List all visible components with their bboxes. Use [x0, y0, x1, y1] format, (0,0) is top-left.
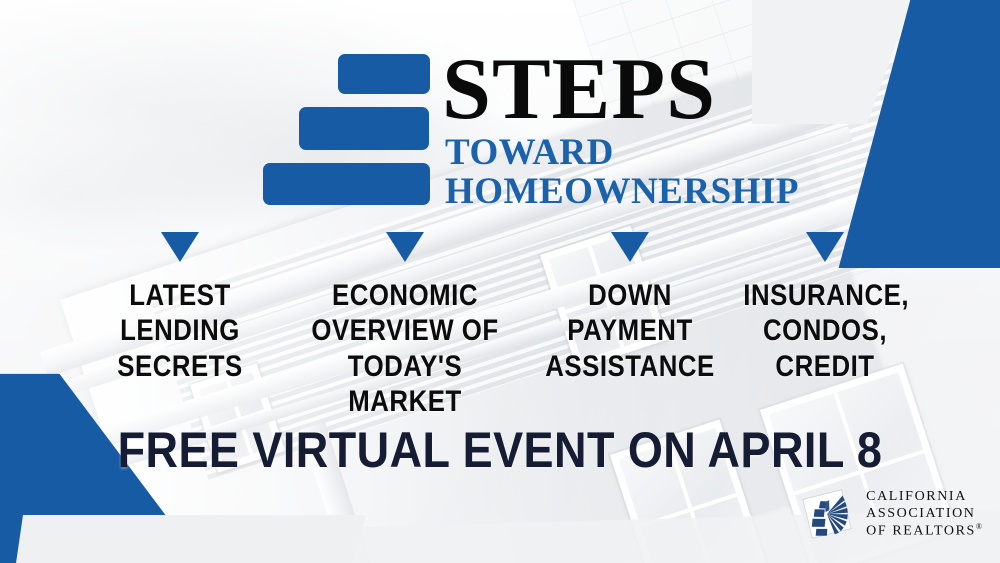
feature-columns: LATEST LENDING SECRETS ECONOMIC OVERVIEW…: [0, 232, 1000, 420]
feature-column-3: DOWN PAYMENT ASSISTANCE: [530, 232, 730, 384]
feature-column-1: LATEST LENDING SECRETS: [80, 232, 280, 384]
logo-title: STEPS: [442, 52, 799, 128]
feature-label-4: INSURANCE, CONDOS, CREDIT: [743, 278, 906, 384]
triangle-down-icon: [386, 232, 424, 262]
event-headline: FREE VIRTUAL EVENT ON APRIL 8: [50, 425, 950, 475]
triangle-down-icon: [806, 232, 844, 262]
car-logo-line-3-text: OF REALTORS: [866, 524, 976, 539]
car-logo-text: CALIFORNIA ASSOCIATION OF REALTORS®: [866, 488, 982, 540]
step-bar-bottom: [263, 163, 430, 205]
california-association-of-realtors-mark-icon: [800, 487, 854, 541]
bottom-left-light-panel: [16, 515, 366, 563]
feature-column-2: ECONOMIC OVERVIEW OF TODAY'S MARKET: [280, 232, 530, 420]
promo-graphic: STEPS TOWARD HOMEOWNERSHIP LATEST LENDIN…: [0, 0, 1000, 563]
step-bar-middle: [299, 107, 429, 150]
feature-label-1: LATEST LENDING SECRETS: [94, 278, 266, 384]
car-logo-line-2: ASSOCIATION: [866, 505, 982, 522]
logo-subtitle-line1: TOWARD: [445, 134, 799, 173]
logo-subtitle: TOWARD HOMEOWNERSHIP: [445, 134, 799, 212]
car-logo-line-3: OF REALTORS®: [866, 522, 982, 540]
registered-mark: ®: [976, 522, 982, 531]
feature-label-2: ECONOMIC OVERVIEW OF TODAY'S MARKET: [298, 278, 513, 420]
california-association-of-realtors-logo: CALIFORNIA ASSOCIATION OF REALTORS®: [800, 487, 982, 541]
steps-bars-icon: [258, 50, 430, 205]
triangle-down-icon: [161, 232, 199, 262]
triangle-down-icon: [611, 232, 649, 262]
car-logo-line-1: CALIFORNIA: [866, 488, 982, 505]
step-bar-top: [338, 54, 430, 94]
steps-logo: STEPS TOWARD HOMEOWNERSHIP: [258, 50, 799, 211]
steps-logo-wordmark: STEPS TOWARD HOMEOWNERSHIP: [430, 50, 799, 211]
feature-label-3: DOWN PAYMENT ASSISTANCE: [544, 278, 716, 384]
logo-subtitle-line2: HOMEOWNERSHIP: [445, 173, 799, 212]
feature-column-4: INSURANCE, CONDOS, CREDIT: [730, 232, 920, 384]
